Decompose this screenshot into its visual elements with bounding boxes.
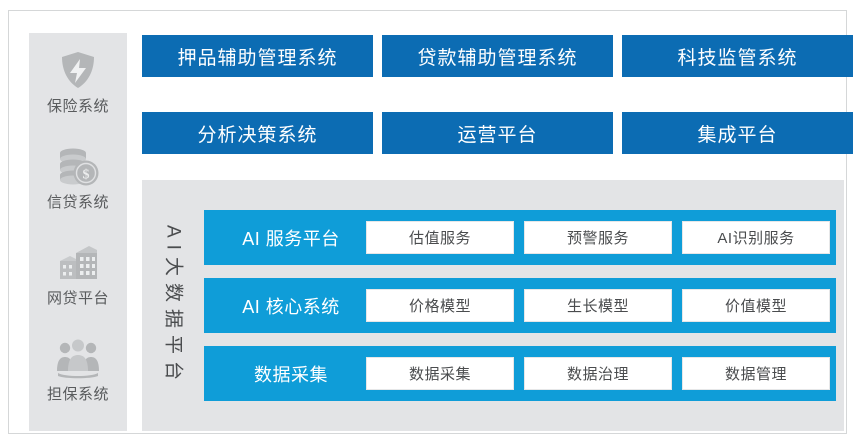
row-cells: 数据采集 数据治理 数据管理 [366, 357, 836, 390]
system-bar-collateral-management[interactable]: 押品辅助管理系统 [142, 35, 373, 77]
sidebar-item-label: 网贷平台 [47, 291, 109, 306]
top-systems-row-1: 押品辅助管理系统 贷款辅助管理系统 科技监管系统 [142, 35, 853, 77]
sidebar-item-guarantee[interactable]: 担保系统 [29, 335, 127, 421]
system-bar-analysis-decision[interactable]: 分析决策系统 [142, 112, 373, 154]
diagram-frame: 保险系统 $ [8, 10, 847, 434]
cell-data-governance[interactable]: 数据治理 [524, 357, 672, 390]
cell-value-model[interactable]: 价值模型 [682, 289, 830, 322]
row-title: AI 服务平台 [216, 225, 366, 251]
buildings-icon [55, 239, 101, 285]
cell-ai-recognition-service[interactable]: AI识别服务 [682, 221, 830, 254]
platform-row-data-collection: 数据采集 数据采集 数据治理 数据管理 [204, 346, 836, 401]
platform-row-ai-core: AI 核心系统 价格模型 生长模型 价值模型 [204, 278, 836, 333]
sidebar-item-credit[interactable]: $ 信贷系统 [29, 143, 127, 229]
cell-data-collection[interactable]: 数据采集 [366, 357, 514, 390]
row-cells: 估值服务 预警服务 AI识别服务 [366, 221, 836, 254]
svg-text:$: $ [83, 168, 90, 183]
shield-bolt-icon [55, 47, 101, 93]
cell-valuation-service[interactable]: 估值服务 [366, 221, 514, 254]
cell-price-model[interactable]: 价格模型 [366, 289, 514, 322]
sidebar-item-label: 信贷系统 [47, 195, 109, 210]
platform-rows: AI 服务平台 估值服务 预警服务 AI识别服务 AI 核心系统 价格模型 生长… [204, 180, 844, 431]
ai-bigdata-platform-panel: AI大数据平台 AI 服务平台 估值服务 预警服务 AI识别服务 AI 核心系统… [142, 180, 844, 431]
system-bar-operations-platform[interactable]: 运营平台 [382, 112, 613, 154]
platform-vertical-title-text: AI大数据平台 [164, 225, 183, 387]
system-bar-tech-supervision[interactable]: 科技监管系统 [622, 35, 853, 77]
people-group-icon [55, 335, 101, 381]
cell-early-warning-service[interactable]: 预警服务 [524, 221, 672, 254]
system-bar-loan-management[interactable]: 贷款辅助管理系统 [382, 35, 613, 77]
system-bar-integration-platform[interactable]: 集成平台 [622, 112, 853, 154]
row-cells: 价格模型 生长模型 价值模型 [366, 289, 836, 322]
platform-vertical-title: AI大数据平台 [142, 180, 204, 431]
cell-data-management[interactable]: 数据管理 [682, 357, 830, 390]
coins-dollar-icon: $ [55, 143, 101, 189]
top-systems-row-2: 分析决策系统 运营平台 集成平台 [142, 112, 853, 154]
platform-row-ai-service: AI 服务平台 估值服务 预警服务 AI识别服务 [204, 210, 836, 265]
cell-growth-model[interactable]: 生长模型 [524, 289, 672, 322]
sidebar-item-insurance[interactable]: 保险系统 [29, 47, 127, 133]
row-title: 数据采集 [216, 361, 366, 387]
sidebar-item-label: 担保系统 [47, 387, 109, 402]
sidebar: 保险系统 $ [29, 33, 127, 431]
architecture-diagram: 保险系统 $ [0, 0, 857, 444]
sidebar-item-online-loan[interactable]: 网贷平台 [29, 239, 127, 325]
row-title: AI 核心系统 [216, 293, 366, 319]
sidebar-item-label: 保险系统 [47, 99, 109, 114]
